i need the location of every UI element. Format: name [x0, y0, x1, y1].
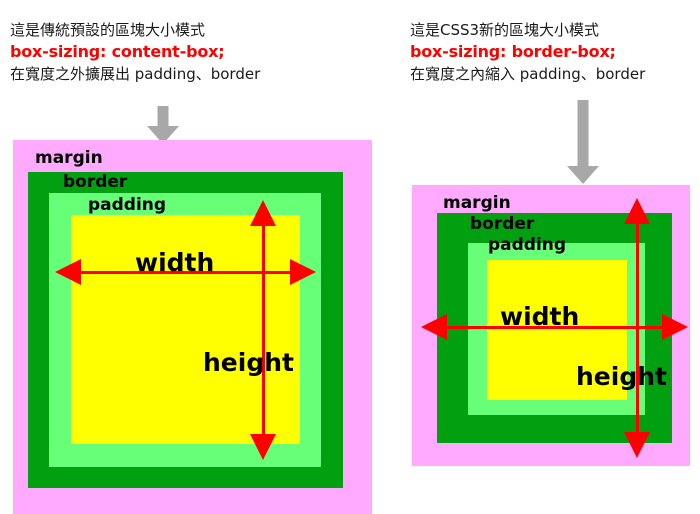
label-margin-right: margin	[443, 193, 511, 213]
label-margin-left: margin	[35, 148, 103, 168]
caption-code-declaration: box-sizing: content-box;	[10, 41, 260, 64]
height-label-left: height	[203, 348, 294, 377]
height-arrow-head-up-right	[624, 198, 650, 224]
label-padding-right: padding	[488, 235, 566, 255]
label-border-left: border	[63, 172, 127, 192]
width-label-left: width	[135, 248, 214, 277]
height-arrow-line-right	[636, 216, 639, 440]
caption-line-1: 這是傳統預設的區塊大小模式	[10, 20, 260, 41]
label-padding-left: padding	[88, 195, 166, 215]
arrow-shaft	[158, 106, 169, 128]
height-label-right: height	[576, 362, 667, 391]
height-arrow-head-down-left	[250, 434, 276, 460]
height-arrow-head-up-left	[250, 200, 276, 226]
width-arrow-head-right-left	[290, 259, 316, 285]
height-arrow-line-left	[262, 218, 265, 442]
caption-line-3: 在寬度之內縮入 padding、border	[410, 64, 645, 85]
arrow-head	[567, 166, 599, 184]
width-arrow-head-left-left	[55, 259, 81, 285]
down-arrow-icon	[566, 100, 600, 185]
label-border-right: border	[470, 214, 534, 234]
width-label-right: width	[500, 302, 579, 331]
arrow-shaft	[578, 100, 589, 168]
caption-border-box: 這是CSS3新的區塊大小模式 box-sizing: border-box; 在…	[410, 20, 645, 85]
width-arrow-head-right-right	[662, 314, 688, 340]
height-arrow-head-down-right	[624, 432, 650, 458]
down-arrow-icon	[146, 106, 180, 144]
caption-code-declaration: box-sizing: border-box;	[410, 41, 645, 64]
caption-content-box: 這是傳統預設的區塊大小模式 box-sizing: content-box; 在…	[10, 20, 260, 85]
caption-line-3: 在寬度之外擴展出 padding、border	[10, 64, 260, 85]
width-arrow-head-left-right	[421, 314, 447, 340]
caption-line-1: 這是CSS3新的區塊大小模式	[410, 20, 645, 41]
